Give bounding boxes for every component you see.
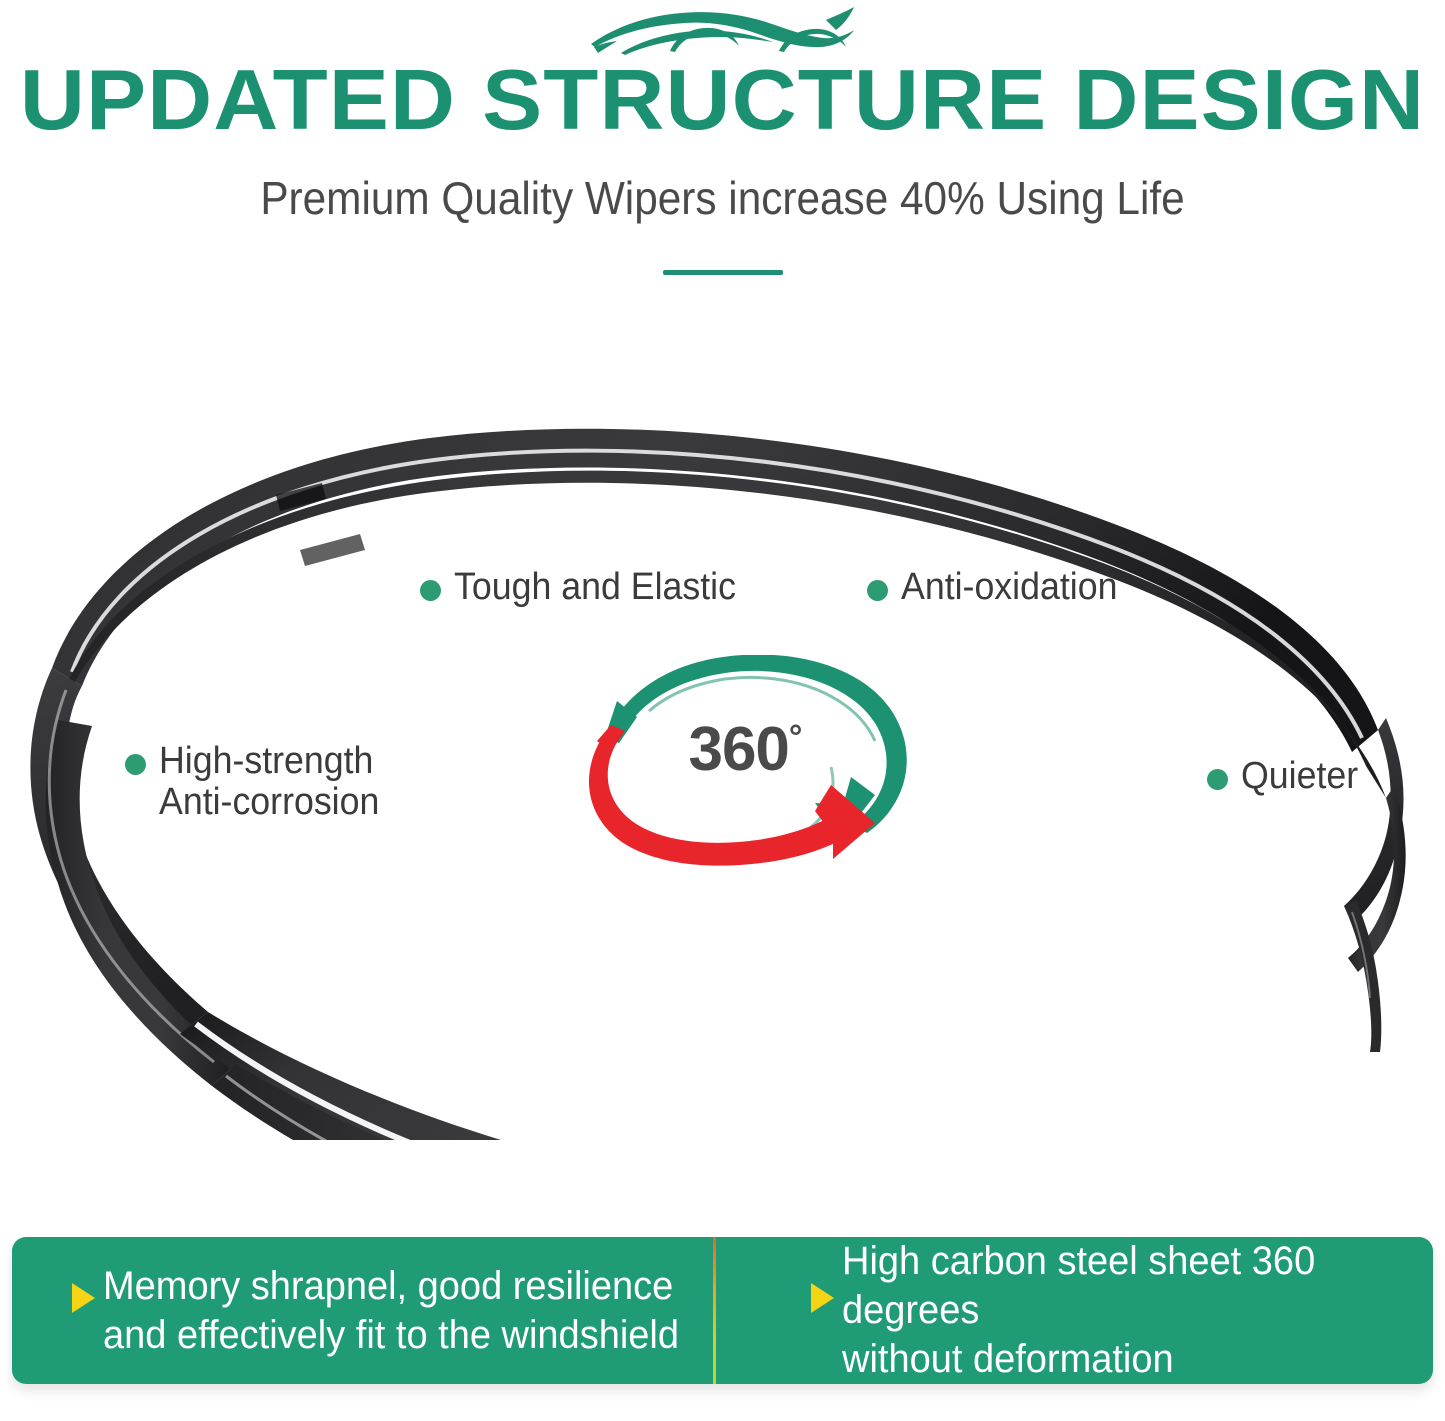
banner-left-text: Memory shrapnel, good resilience and eff… <box>103 1262 679 1360</box>
badge-360-label: 360° <box>575 717 915 783</box>
triangle-bullet-icon <box>811 1283 834 1313</box>
banner-right-text: High carbon steel sheet 360 degrees with… <box>842 1237 1404 1384</box>
bullet-dot-icon <box>125 754 146 775</box>
badge-360-degrees: 360° <box>575 655 915 870</box>
page-subtitle: Premium Quality Wipers increase 40% Usin… <box>58 170 1387 226</box>
product-infographic: UPDATED STRUCTURE DESIGN Premium Quality… <box>0 0 1445 1421</box>
feature-label: Quieter <box>1241 756 1358 797</box>
triangle-bullet-icon <box>72 1283 95 1313</box>
bullet-dot-icon <box>867 580 888 601</box>
bullet-dot-icon <box>420 580 441 601</box>
feature-label: Tough and Elastic <box>454 567 736 608</box>
bottom-feature-banner: Memory shrapnel, good resilience and eff… <box>12 1237 1433 1384</box>
badge-degree-symbol: ° <box>789 718 802 756</box>
title-divider <box>663 270 783 275</box>
feature-label: Anti-oxidation <box>901 567 1117 608</box>
feature-callout-tough-and-elastic: Tough and Elastic <box>420 567 754 608</box>
bullet-dot-icon <box>1207 769 1228 790</box>
page-title: UPDATED STRUCTURE DESIGN <box>0 56 1445 146</box>
banner-panel-left: Memory shrapnel, good resilience and eff… <box>12 1237 723 1384</box>
banner-divider <box>713 1237 716 1384</box>
banner-panel-right: High carbon steel sheet 360 degrees with… <box>723 1237 1434 1384</box>
badge-number: 360 <box>688 715 788 784</box>
feature-label: High-strength Anti-corrosion <box>159 741 379 823</box>
feature-callout-anti-oxidation: Anti-oxidation <box>867 567 1131 608</box>
feature-callout-high-strength-anti-corrosion: High-strength Anti-corrosion <box>125 741 393 823</box>
feature-callout-quieter: Quieter <box>1207 756 1366 797</box>
